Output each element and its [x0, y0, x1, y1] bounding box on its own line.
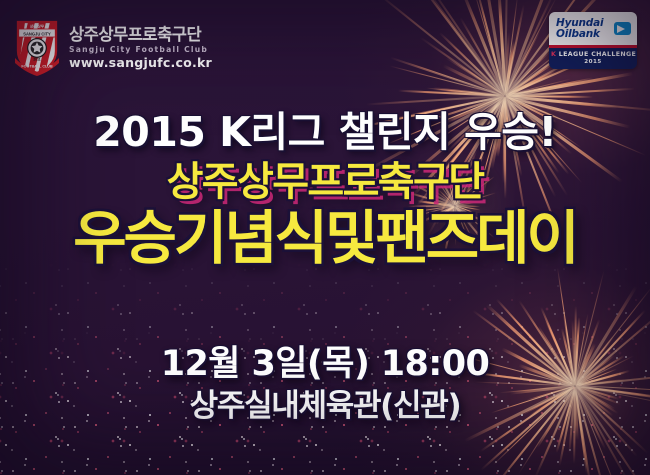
club-website-url[interactable]: www.sangjufc.co.kr [69, 57, 212, 70]
poster-canvas: SANGJU CITY 상주 상무 2011 FOOTBALL CLUB 상주상… [0, 0, 650, 475]
sponsor-brand-row: Hyundai Oilbank [549, 12, 637, 45]
svg-text:상주 상무: 상주 상무 [30, 24, 45, 29]
event-info-block: 12월 3일(목) 18:00 상주실내체육관(신관) [0, 347, 650, 422]
sponsor-brand-line2: Oilbank [556, 29, 603, 40]
event-venue: 상주실내체육관(신관) [0, 391, 650, 422]
league-name: K LEAGUE CHALLENGE [551, 51, 635, 58]
headline-stack: 2015 K리그 챌린지 우승! 상주상무프로축구단 우승기념식및팬즈데이 [0, 112, 650, 267]
club-name-korean: 상주상무프로축구단 [69, 27, 212, 44]
headline-line-3: 우승기념식및팬즈데이 [0, 209, 650, 267]
club-logo-block[interactable]: SANGJU CITY 상주 상무 2011 FOOTBALL CLUB 상주상… [14, 18, 212, 76]
league-name-rest: LEAGUE CHALLENGE [556, 51, 636, 58]
league-info: K LEAGUE CHALLENGE 2015 [549, 48, 637, 70]
svg-text:FOOTBALL CLUB: FOOTBALL CLUB [21, 65, 53, 69]
svg-text:2011: 2011 [33, 58, 40, 62]
event-date-time: 12월 3일(목) 18:00 [0, 347, 650, 382]
club-crest-icon: SANGJU CITY 상주 상무 2011 FOOTBALL CLUB [14, 18, 60, 76]
headline-line-2: 상주상무프로축구단 [0, 162, 650, 202]
league-year: 2015 [551, 59, 635, 65]
club-logo-text: 상주상무프로축구단 Sangju City Football Club www.… [69, 25, 212, 70]
club-name-english: Sangju City Football Club [69, 46, 212, 54]
headline-line-1: 2015 K리그 챌린지 우승! [0, 112, 650, 153]
hyundai-oilbank-logo-icon [614, 22, 631, 35]
sponsor-league-badge[interactable]: Hyundai Oilbank K LEAGUE CHALLENGE 2015 [549, 12, 637, 69]
svg-text:SANGJU CITY: SANGJU CITY [23, 31, 51, 36]
sponsor-brand-name: Hyundai Oilbank [556, 18, 603, 40]
